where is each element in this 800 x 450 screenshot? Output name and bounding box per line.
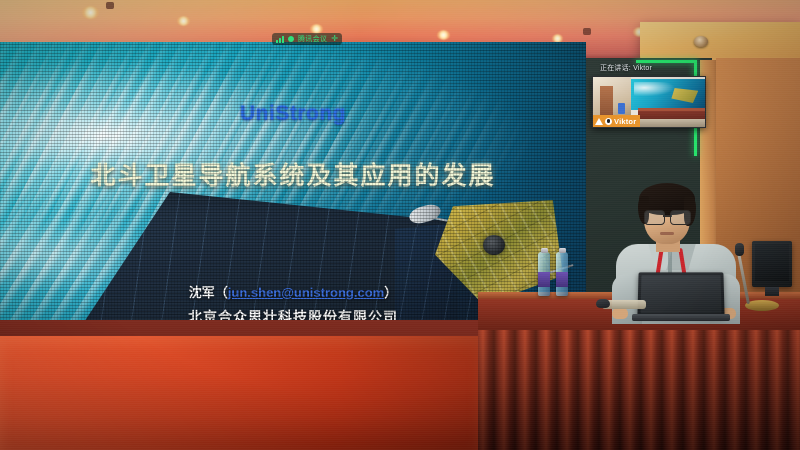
conference-room-photo: UniStrong 北斗卫星导航系统及其应用的发展 沈军（jun.shen@un… xyxy=(0,0,800,450)
slide-title: 北斗卫星导航系统及其应用的发展 xyxy=(0,156,586,192)
pleated-curtain xyxy=(478,330,800,450)
presenter-mouth xyxy=(660,232,674,235)
slide-company-logo: UniStrong xyxy=(0,102,586,126)
monitor-stand xyxy=(765,287,779,296)
water-bottle xyxy=(556,252,568,296)
participant-name-badge: Viktor xyxy=(593,115,640,127)
lens-left xyxy=(644,210,665,225)
microphone-base xyxy=(745,300,779,311)
pip-door xyxy=(600,86,613,115)
downlight xyxy=(82,6,99,19)
share-app-label: 腾讯会议 xyxy=(298,34,327,44)
participant-name: Viktor xyxy=(614,117,636,126)
warning-triangle-icon xyxy=(595,118,603,125)
bottle-cap xyxy=(541,248,548,253)
bottle-label xyxy=(556,272,568,287)
bottle-cap xyxy=(559,248,566,253)
desktop-monitor xyxy=(752,241,792,287)
plus-icon[interactable]: ✛ xyxy=(331,35,338,43)
lens-right xyxy=(670,210,691,225)
paren-open: （ xyxy=(215,285,228,300)
satellite-dish-icon xyxy=(483,235,505,255)
microphone-head-icon xyxy=(735,243,744,256)
ceiling-vent xyxy=(583,28,591,35)
presenter-hand-left xyxy=(612,308,628,319)
signal-bars-icon xyxy=(276,36,284,43)
slide-author-name: 沈军 xyxy=(189,285,215,300)
downlight xyxy=(177,16,190,26)
computer-mouse-icon xyxy=(596,299,610,308)
active-speaker-label: 正在讲话: Viktor xyxy=(600,63,652,73)
screen-share-status-bar[interactable]: 腾讯会议 ✛ xyxy=(272,33,342,45)
slide-author-email: jun.shen@unistrong.com xyxy=(228,285,384,300)
laptop-screen xyxy=(637,272,724,316)
downlight xyxy=(437,30,450,40)
recording-dot-icon xyxy=(288,36,294,42)
ceiling-vent xyxy=(106,2,114,9)
eyeglasses-icon xyxy=(644,210,691,223)
paren-close: ） xyxy=(384,285,397,300)
water-bottle xyxy=(538,252,550,296)
table-skirt-red xyxy=(0,336,480,450)
participant-video-tile[interactable]: Viktor xyxy=(592,76,706,128)
laptop-keyboard-base xyxy=(632,314,730,321)
smoke-detector-icon xyxy=(694,36,708,47)
microphone-icon xyxy=(605,118,612,125)
bottle-label xyxy=(538,272,550,287)
pip-object xyxy=(618,103,626,114)
